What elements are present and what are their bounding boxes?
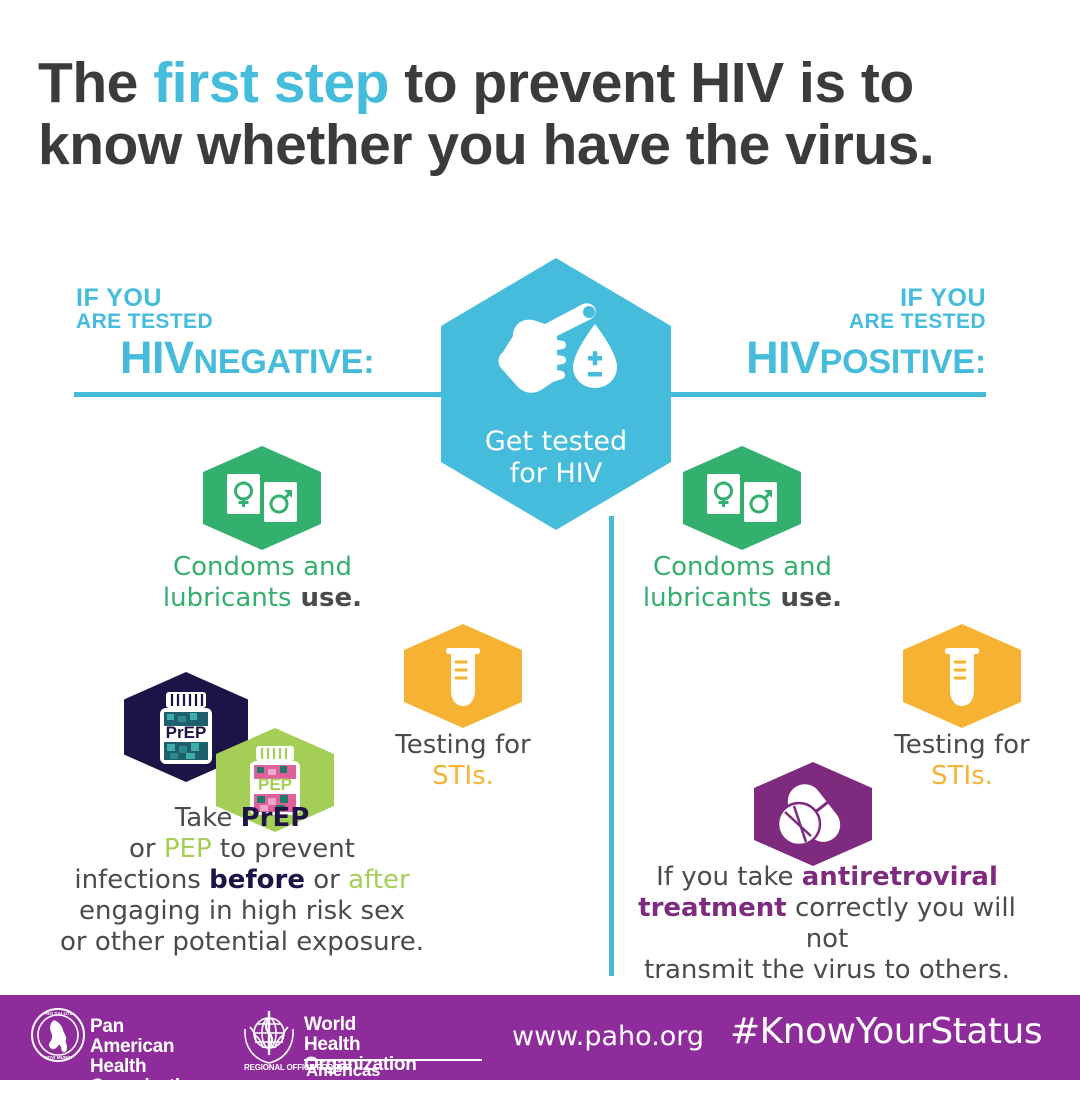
arv-line2-a: treatment: [638, 893, 787, 923]
condoms-caption-gray-right: use.: [772, 583, 843, 613]
svg-text:PEP: PEP: [258, 775, 292, 794]
condom-packets-icon: [203, 446, 321, 550]
website-url[interactable]: www.paho.org: [512, 1021, 704, 1052]
prep-line5: or other potential exposure.: [60, 927, 424, 957]
sti-caption-right: Testing for STIs.: [847, 730, 1077, 792]
svg-text:PRO SALUTE: PRO SALUTE: [43, 1011, 73, 1016]
condoms-caption-left: Condoms and lubricants use.: [110, 552, 415, 614]
svg-text:NOVI MUNDI: NOVI MUNDI: [44, 1055, 72, 1060]
prep-line2-a: or: [129, 834, 164, 864]
antiretroviral-caption: If you take antiretroviral treatment cor…: [636, 862, 1018, 986]
negative-hiv-label: HIV: [120, 332, 194, 383]
sti-caption-yellow-left: STIs.: [432, 761, 494, 791]
center-label-line1: Get tested: [485, 426, 627, 457]
prep-pep-caption: Take PrEP or PEP to prevent infections b…: [52, 803, 432, 958]
arv-line1-b: antiretroviral: [802, 862, 998, 892]
prep-line2-c: to prevent: [212, 834, 355, 864]
sti-caption-gray-right: Testing for: [894, 730, 1029, 760]
positive-header-rule: [634, 392, 986, 397]
svg-text:PrEP: PrEP: [166, 723, 207, 742]
sti-caption-yellow-right: STIs.: [931, 761, 993, 791]
paho-seal-icon: PRO SALUTE NOVI MUNDI: [30, 1007, 86, 1063]
center-label-line2: for HIV: [510, 458, 602, 489]
condom-packets-icon: [683, 446, 801, 550]
condoms-caption-right: Condoms and lubricants use.: [590, 552, 895, 614]
sti-caption-gray-left: Testing for: [395, 730, 530, 760]
negative-header-rule: [74, 392, 446, 397]
prep-line2-b: PEP: [164, 834, 212, 864]
who-regional-big: Americas: [306, 1061, 380, 1081]
get-tested-hexagon: Get tested for HIV: [441, 258, 671, 530]
arv-line1-a: If you take: [656, 862, 802, 892]
sti-hexagon-right: [903, 624, 1021, 728]
test-tube-icon: [404, 624, 522, 728]
headline-accent: first step: [153, 51, 389, 115]
prep-line1-b: PrEP: [241, 803, 310, 833]
paho-name: Pan American Health Organization: [90, 1017, 203, 1097]
who-emblem-icon: [238, 1007, 300, 1069]
prep-line3-d: after: [348, 865, 410, 895]
finger-blood-drop-icon: [483, 294, 629, 414]
sti-caption-left: Testing for STIs.: [348, 730, 578, 792]
prep-line4: engaging in high risk sex: [79, 896, 405, 926]
condoms-hexagon-left: [203, 446, 321, 550]
footer-bar: PRO SALUTE NOVI MUNDI Pan American Healt…: [0, 995, 1080, 1080]
page-headline: The first step to prevent HIV is to know…: [38, 52, 1038, 176]
condoms-caption-gray-left: use.: [292, 583, 363, 613]
prep-line3-b: before: [209, 865, 305, 895]
test-tube-icon: [903, 624, 1021, 728]
arv-line2-b: correctly you will not: [787, 893, 1016, 954]
negative-status-label: NEGATIVE:: [194, 343, 375, 381]
prep-line1-a: Take: [175, 803, 241, 833]
arv-line3: transmit the virus to others.: [644, 955, 1010, 985]
sti-hexagon-left: [404, 624, 522, 728]
prep-line3-c: or: [305, 865, 348, 895]
headline-part1: The: [38, 51, 153, 115]
condoms-hexagon-right: [683, 446, 801, 550]
positive-hiv-label: HIV: [746, 332, 820, 383]
center-hexagon-label: Get tested for HIV: [441, 426, 671, 490]
campaign-hashtag[interactable]: #KnowYourStatus: [730, 1011, 1042, 1052]
prep-line3-a: infections: [74, 865, 209, 895]
positive-status-label: POSITIVE:: [820, 343, 986, 381]
